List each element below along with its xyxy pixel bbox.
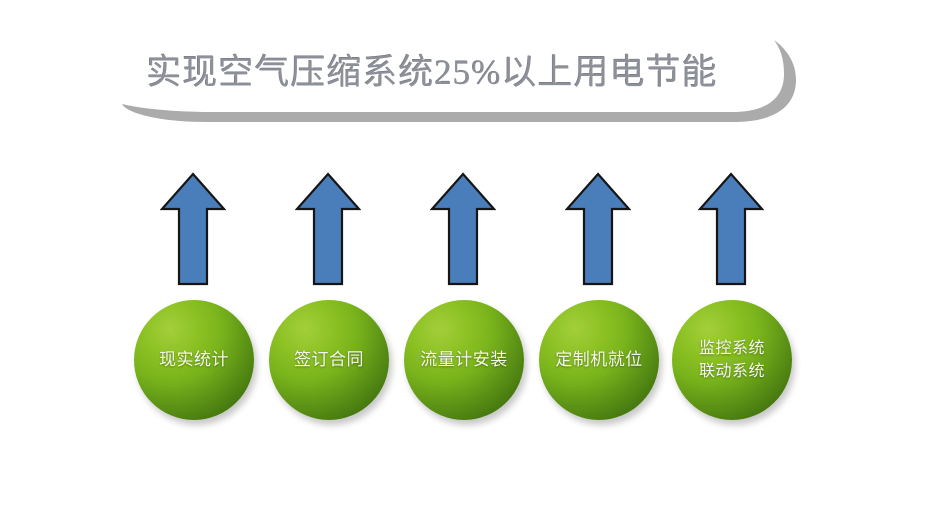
arrow-up-4 — [565, 172, 631, 286]
arrow-up-5 — [698, 172, 764, 286]
arrow-up-icon — [698, 172, 764, 286]
node-sign-contract[interactable]: 签订合同 — [269, 300, 389, 420]
arrow-up-icon — [295, 172, 361, 286]
arrow-up-3 — [430, 172, 496, 286]
node-label: 监控系统 联动系统 — [695, 337, 769, 383]
node-status-survey[interactable]: 现实统计 — [134, 300, 254, 420]
arrow-up-1 — [160, 172, 226, 286]
node-flowmeter-install[interactable]: 流量计安装 — [404, 300, 524, 420]
arrow-up-icon — [565, 172, 631, 286]
slide-canvas: 实现空气压缩系统25%以上用电节能 现实统计 签订合同 流量计安装 定制机 — [0, 0, 945, 529]
arrow-up-2 — [295, 172, 361, 286]
node-label: 签订合同 — [290, 349, 368, 371]
title-banner: 实现空气压缩系统25%以上用电节能 — [112, 34, 812, 134]
node-label: 现实统计 — [155, 349, 233, 371]
node-label: 流量计安装 — [416, 349, 512, 371]
node-label: 定制机就位 — [551, 349, 647, 371]
page-title: 实现空气压缩系统25%以上用电节能 — [112, 34, 752, 112]
arrow-up-icon — [430, 172, 496, 286]
node-monitoring-system[interactable]: 监控系统 联动系统 — [672, 300, 792, 420]
arrow-up-icon — [160, 172, 226, 286]
node-custom-machine[interactable]: 定制机就位 — [539, 300, 659, 420]
